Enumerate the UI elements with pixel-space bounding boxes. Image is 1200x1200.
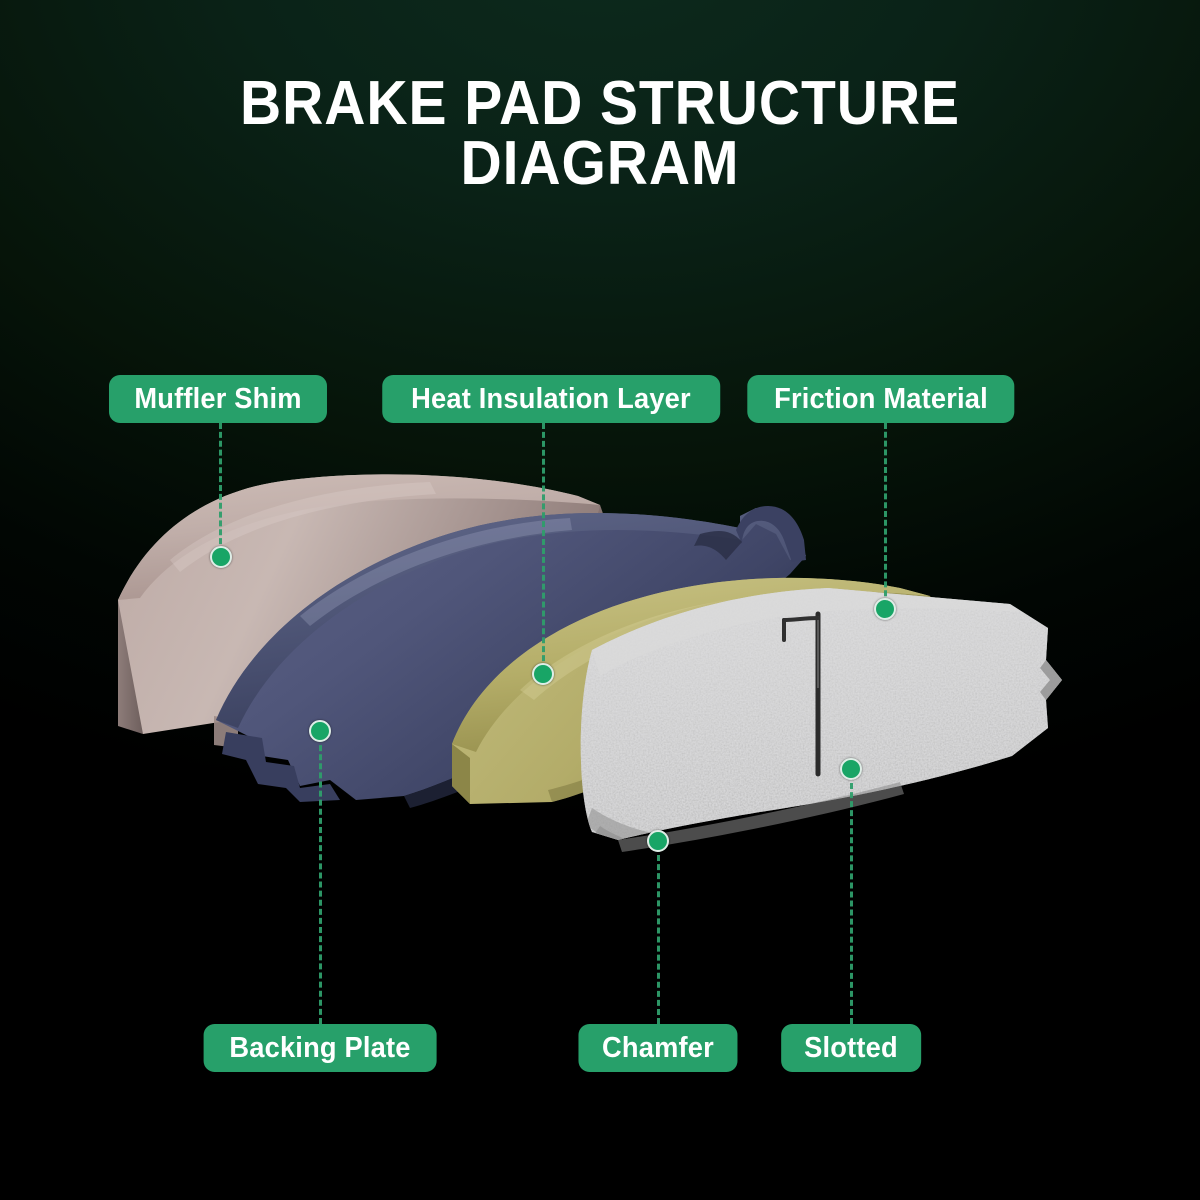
leader-line-heat-insulation-layer xyxy=(542,423,545,670)
label-slotted-text: Slotted xyxy=(804,1032,898,1065)
label-chamfer-text: Chamfer xyxy=(602,1032,714,1065)
label-muffler-shim-text: Muffler Shim xyxy=(134,383,301,416)
leader-line-backing-plate xyxy=(319,736,322,1024)
leader-line-chamfer xyxy=(657,846,660,1024)
leader-line-friction-material xyxy=(884,423,887,605)
label-muffler-shim[interactable]: Muffler Shim xyxy=(109,375,327,423)
callout-dot-backing-plate[interactable] xyxy=(309,720,331,742)
label-backing-plate-text: Backing Plate xyxy=(229,1032,410,1065)
callout-dot-heat-insulation-layer[interactable] xyxy=(532,663,554,685)
leader-line-muffler-shim xyxy=(219,423,222,553)
callout-dot-muffler-shim[interactable] xyxy=(210,546,232,568)
callout-dot-friction-material[interactable] xyxy=(874,598,896,620)
leader-line-slotted xyxy=(850,774,853,1024)
label-heat-insulation-layer-text: Heat Insulation Layer xyxy=(411,383,691,416)
label-friction-material-text: Friction Material xyxy=(774,383,988,416)
label-backing-plate[interactable]: Backing Plate xyxy=(204,1024,437,1072)
label-heat-insulation-layer[interactable]: Heat Insulation Layer xyxy=(382,375,720,423)
callout-dot-slotted[interactable] xyxy=(840,758,862,780)
callout-dot-chamfer[interactable] xyxy=(647,830,669,852)
diagram-canvas: BRAKE PAD STRUCTURE DIAGRAM xyxy=(0,0,1200,1200)
label-friction-material[interactable]: Friction Material xyxy=(747,375,1014,423)
label-slotted[interactable]: Slotted xyxy=(781,1024,921,1072)
label-chamfer[interactable]: Chamfer xyxy=(578,1024,737,1072)
brake-pad-exploded-illustration xyxy=(0,0,1200,1200)
